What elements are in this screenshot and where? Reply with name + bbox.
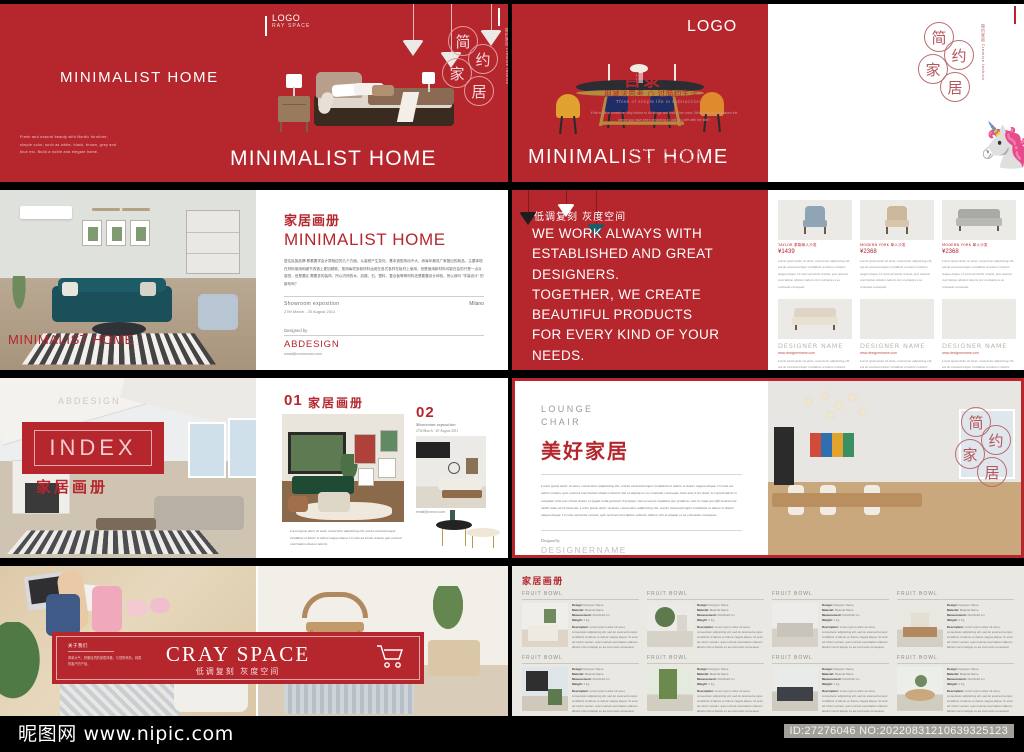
quote-line: ESTABLISHED AND GREAT — [532, 244, 762, 264]
catalog-field-description: Description: Lorem ipsum dolor sit amet,… — [697, 625, 764, 650]
shopping-cart-icon[interactable] — [376, 644, 406, 670]
catalog-item[interactable]: FRUIT BOWL Design: Designer Name Materia… — [647, 655, 764, 713]
catalog-item-title: FRUIT BOWL — [522, 591, 639, 597]
catalog-field-weight: Weight: 1 Kg — [697, 682, 764, 687]
designer-name: ABDESIGN — [284, 339, 484, 350]
cover-headline-small: MINIMALIST HOME — [60, 69, 219, 86]
sofa-grey-photo — [772, 603, 818, 647]
product-card[interactable]: DESIGNER NAME www.designername.com Lorem… — [942, 299, 1016, 370]
index-content-page: 01 家居画册 Lorem ipsum dolor sit amet, cons… — [256, 378, 508, 558]
catalog-item-title: FRUIT BOWL — [772, 591, 889, 597]
lounge-body: Lorem ipsum dolor sit amet, consectetur … — [541, 483, 742, 520]
exposition-city: Milano — [469, 301, 484, 307]
seal-char-2: 约 — [468, 44, 498, 74]
catalog-item[interactable]: FRUIT BOWL Design: Designer Name Materia… — [647, 591, 764, 649]
divider — [647, 599, 764, 600]
lounge-eyebrow-line1: LOUNGE — [541, 403, 742, 416]
photo-overlay-title: MINIMALIST HOME — [8, 332, 134, 347]
index-badge: INDEX — [22, 422, 164, 474]
corner-tick-mark — [498, 8, 500, 26]
divider — [541, 530, 742, 531]
divider — [541, 474, 742, 475]
catalog-field-weight: Weight: 1 Kg — [822, 682, 889, 687]
exposition-date: 27th March - 20 August 2011 — [284, 309, 339, 314]
lounge-title-cn: 美好家居 — [541, 435, 742, 464]
item-caption-01: Lorem ipsum dolor sit amet, consectetur … — [290, 528, 406, 548]
index-spread[interactable]: ABDESIGN INDEX 家居画册 01 家居画册 Lorem ipsum … — [0, 378, 508, 558]
seal-stamp: 简 约 家 居 简约家居 Creative fashion — [914, 22, 976, 108]
divider — [772, 599, 889, 600]
exposition-label: Showroom exposition — [284, 301, 339, 307]
lounge-chair-spread[interactable]: LOUNGE CHAIR 美好家居 Lorem ipsum dolor sit … — [512, 378, 1024, 558]
product-card[interactable]: DESIGNER NAME www.designername.com Lorem… — [860, 299, 934, 370]
catalog-item[interactable]: FRUIT BOWL Design: Designer Name Materia… — [897, 591, 1014, 649]
designer-name: DESIGNER NAME — [778, 342, 852, 350]
armchair-icon — [860, 200, 934, 240]
quote-line: WE WORK ALWAYS WITH — [532, 224, 762, 244]
designer-name: DESIGNERNAME — [541, 545, 742, 555]
seal-char-4: 居 — [940, 72, 970, 102]
product-name: MODERN YORK 单人沙发 — [942, 243, 1016, 248]
designer-name: DESIGNER NAME — [942, 342, 1016, 350]
green-sofa-room-photo — [282, 414, 404, 522]
catalog-field-weight: Weight: 1 Kg — [947, 682, 1014, 687]
contents-spread[interactable]: LOGO MINIMALIST HOME 🦄 目录 用减法思考 ○ 过简约生活 … — [512, 4, 1024, 182]
designed-by-label: Designed by — [284, 328, 484, 333]
seal-stamp: 简 约 家 居 — [951, 407, 1013, 493]
quote-title-cn: 低调复刻 灰度空间 — [534, 208, 626, 223]
catalog-spread[interactable]: 家居画册 FRUIT BOWL Design: Designer Name Ma… — [512, 566, 1024, 716]
divider — [647, 663, 764, 664]
quote-lines: WE WORK ALWAYS WITH ESTABLISHED AND GREA… — [532, 224, 762, 366]
catalog-field-description: Description: Lorem ipsum dolor sit amet,… — [822, 689, 889, 714]
product-name: MODERN YORK 单人沙发 — [860, 243, 934, 248]
contents-subtitle-en: Think of simple life in subtraction — [616, 99, 700, 104]
side-table-photo — [522, 603, 568, 647]
product-desc: Lorem ipsum dolor sit amet, consectetur … — [778, 358, 852, 370]
contents-paragraph-cn: 人的脑就像是一间屋子 而脑子就像是家居 如果一直把没用到的家居都清理掉 当您要把… — [592, 128, 742, 177]
watermark-text: 昵图网 www.nipic.com — [18, 719, 234, 746]
item-title-01: 家居画册 — [308, 394, 364, 411]
living-room-photo — [860, 299, 934, 339]
deer-figurine-icon: 🦄 — [978, 124, 1018, 180]
image-id-bar: ID:27276046 NO:20220831210639325123 — [784, 724, 1014, 738]
bamboo-plant-photo — [647, 667, 693, 711]
showroom-title-en: MINIMALIST HOME — [284, 230, 484, 250]
divider — [284, 296, 484, 297]
index-label: INDEX — [49, 435, 136, 461]
catalog-item[interactable]: FRUIT BOWL Design: Designer Name Materia… — [772, 591, 889, 649]
nesting-tables-icon — [436, 518, 504, 552]
plant-lamp-photo — [647, 603, 693, 647]
seal-char-2: 约 — [981, 425, 1011, 455]
index-label-cn: 家居画册 — [36, 476, 108, 497]
catalog-heading: 家居画册 — [522, 574, 1014, 587]
cover-blurb: Fresh and natural beauty with Nordic fur… — [20, 134, 120, 157]
product-price: ¥2368 — [942, 249, 1016, 255]
living-room-photo: MINIMALIST HOME — [0, 190, 256, 370]
logo-bar — [265, 16, 267, 36]
catalog-item-title: FRUIT BOWL — [522, 655, 639, 661]
white-sofa-room-photo — [416, 436, 486, 508]
item-date-02: 27th March - 20 August 2011 — [416, 429, 458, 433]
cray-space-subtitle: 低调复刻 灰度空间 — [52, 666, 424, 677]
product-desc: Lorem ipsum dolor sit amet, consectetur … — [778, 258, 852, 290]
catalog-item-title: FRUIT BOWL — [897, 655, 1014, 661]
catalog-item-title: FRUIT BOWL — [897, 591, 1014, 597]
logo-block: LOGO RAY SPACE — [272, 14, 311, 29]
dining-set-photo — [897, 603, 943, 647]
designer-site[interactable]: www.designername.com — [942, 351, 1016, 355]
lounge-eyebrow-line2: CHAIR — [541, 416, 742, 429]
cover-spread[interactable]: LOGO RAY SPACE MINIMALIST HOME Fresh and… — [0, 4, 508, 182]
catalog-field-description: Description: Lorem ipsum dolor sit amet,… — [697, 689, 764, 714]
catalog-field-weight: Weight: 1 Kg — [947, 618, 1014, 623]
catalog-item-title: FRUIT BOWL — [647, 655, 764, 661]
product-desc: Lorem ipsum dolor sit amet, consectetur … — [860, 358, 934, 370]
product-price: ¥2368 — [860, 249, 934, 255]
item-label-02: Showroom exposition — [416, 422, 456, 427]
item-email-02: email@xxxxxx.com — [416, 510, 445, 514]
catalog-grid: FRUIT BOWL Design: Designer Name Materia… — [522, 591, 1014, 714]
lounge-text-column: LOUNGE CHAIR 美好家居 Lorem ipsum dolor sit … — [515, 381, 768, 555]
product-desc: Lorem ipsum dolor sit amet, consectetur … — [942, 358, 1016, 370]
quote-line: DESIGNERS. — [532, 265, 762, 285]
living-room-photo — [942, 299, 1016, 339]
quote-line: FOR EVERY KIND OF YOUR — [532, 325, 762, 345]
showroom-spread[interactable]: MINIMALIST HOME 家居画册 MINIMALIST HOME 居住民… — [0, 190, 508, 370]
photo-watermark: ABDESIGN — [58, 396, 121, 406]
catalog-item[interactable]: FRUIT BOWL Design: Designer Name Materia… — [522, 591, 639, 649]
designed-by-label: Designed by — [541, 539, 742, 543]
screenshot-stage: LOGO RAY SPACE MINIMALIST HOME Fresh and… — [0, 0, 1024, 752]
contents-paragraph-en: If life is full of sunshine, why bother … — [586, 110, 742, 124]
divider — [522, 599, 639, 600]
designer-email: email@xxxxxxxxxx.com — [284, 352, 484, 356]
catalog-item-title: FRUIT BOWL — [647, 591, 764, 597]
showroom-body: 居住民族品牌 看看要学会计算相应的几个方面。从装修产生变化，基本造型改动不大，而… — [284, 258, 484, 288]
divider — [772, 663, 889, 664]
item-number-02: 02 — [416, 404, 435, 421]
designer-site[interactable]: www.designername.com — [860, 351, 934, 355]
quote-line: TOGETHER, WE CREATE — [532, 285, 762, 305]
product-desc: Lorem ipsum dolor sit amet, consectetur … — [860, 258, 934, 290]
designer-site[interactable]: www.designername.com — [778, 351, 852, 355]
product-price: ¥1439 — [778, 249, 852, 255]
product-card[interactable]: MODERN YORK 单人沙发 ¥2368 Lorem ipsum dolor… — [860, 200, 934, 290]
seal-char-4: 居 — [464, 76, 494, 106]
catalog-field-description: Description: Lorem ipsum dolor sit amet,… — [572, 625, 639, 650]
seal-vertical-text: 简约家居 Creative fashion — [980, 24, 986, 81]
designer-email: email@xxxxxx.com — [541, 557, 742, 558]
product-card[interactable]: TAYLOR 泰勒单人沙发 ¥1439 Lorem ipsum dolor si… — [778, 200, 852, 290]
quote-line: NEEDS. — [532, 346, 762, 366]
corner-tick-mark — [1014, 6, 1016, 24]
product-card[interactable]: DESIGNER NAME www.designername.com Lorem… — [778, 299, 852, 370]
divider — [897, 599, 1014, 600]
catalog-field-description: Description: Lorem ipsum dolor sit amet,… — [572, 689, 639, 714]
bed-illustration — [272, 66, 462, 134]
catalog-field-description: Description: Lorem ipsum dolor sit amet,… — [947, 689, 1014, 714]
armchair-icon — [778, 200, 852, 240]
showroom-text-page: 家居画册 MINIMALIST HOME 居住民族品牌 看看要学会计算相应的几个… — [256, 190, 508, 370]
logo-sublabel: RAY SPACE — [272, 24, 311, 30]
quote-products-spread[interactable]: 低调复刻 灰度空间 WE WORK ALWAYS WITH ESTABLISHE… — [512, 190, 1024, 370]
quote-panel: 低调复刻 灰度空间 WE WORK ALWAYS WITH ESTABLISHE… — [512, 190, 768, 370]
seal-char-4: 居 — [977, 457, 1007, 487]
window-room-photo — [522, 667, 568, 711]
quote-line: BEAUTIFUL PRODUCTS — [532, 305, 762, 325]
cover-headline-large: MINIMALIST HOME — [230, 147, 437, 171]
item-number-01: 01 — [284, 392, 303, 409]
contents-logo-label: LOGO — [687, 18, 737, 36]
cray-space-title: CRAY SPACE — [52, 642, 424, 667]
product-grid: TAYLOR 泰勒单人沙发 ¥1439 Lorem ipsum dolor si… — [770, 190, 1024, 370]
dark-sofa-photo — [772, 667, 818, 711]
seal-vertical-text: 简约家居 Creative fashion — [504, 28, 508, 85]
product-card[interactable]: MODERN YORK 单人沙发 ¥2368 Lorem ipsum dolor… — [942, 200, 1016, 290]
catalog-field-weight: Weight: 1 Kg — [572, 618, 639, 623]
catalog-field-weight: Weight: 1 Kg — [572, 682, 639, 687]
cray-space-banner[interactable]: 关于我们 简单大气，舒服自然的家居风格，与您带来机，纯属的客户的产品。 CRAY… — [52, 632, 424, 684]
catalog-field-weight: Weight: 1 Kg — [822, 618, 889, 623]
chandelier-icon — [802, 391, 868, 425]
catalog-field-description: Description: Lorem ipsum dolor sit amet,… — [947, 625, 1014, 650]
round-table-photo — [897, 667, 943, 711]
catalog-item[interactable]: FRUIT BOWL Design: Designer Name Materia… — [897, 655, 1014, 713]
catalog-field-description: Description: Lorem ipsum dolor sit amet,… — [822, 625, 889, 650]
divider — [897, 663, 1014, 664]
divider — [284, 335, 484, 336]
designer-name: DESIGNER NAME — [860, 342, 934, 350]
catalog-item[interactable]: FRUIT BOWL Design: Designer Name Materia… — [522, 655, 639, 713]
divider — [522, 663, 639, 664]
seal-char-2: 约 — [944, 40, 974, 70]
catalog-item[interactable]: FRUIT BOWL Design: Designer Name Materia… — [772, 655, 889, 713]
product-name: TAYLOR 泰勒单人沙发 — [778, 243, 852, 248]
catalog-item-title: FRUIT BOWL — [772, 655, 889, 661]
contents-subtitle-cn: 用减法思考 ○ 过简约生活 — [604, 88, 698, 99]
showroom-title-cn: 家居画册 — [284, 210, 484, 229]
catalog-field-weight: Weight: 1 Kg — [697, 618, 764, 623]
product-desc: Lorem ipsum dolor sit amet, consectetur … — [942, 258, 1016, 290]
seal-stamp: 简 约 家 居 简约家居 Creative fashion — [438, 26, 500, 112]
sofa-icon — [778, 299, 852, 339]
sofa-icon — [942, 200, 1016, 240]
